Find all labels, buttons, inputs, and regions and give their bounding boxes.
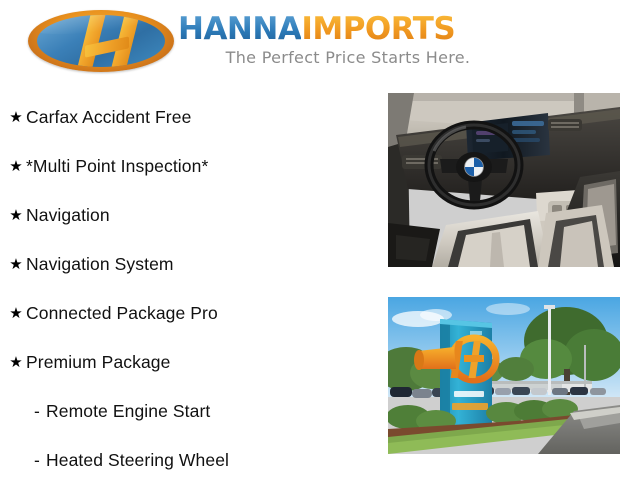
hanna-h-emblem-icon: [28, 10, 174, 72]
brand-header: HANNAIMPORTS The Perfect Price Starts He…: [0, 0, 640, 88]
vehicle-interior-artwork: [388, 93, 620, 267]
vehicle-feature-list: ★Carfax Accident Free★*Multi Point Inspe…: [0, 93, 380, 485]
wordmark-hanna: HANNA: [178, 11, 301, 47]
feature-item: ★Premium Package: [0, 338, 380, 387]
star-bullet-icon: ★: [6, 355, 26, 370]
star-bullet-icon: ★: [6, 159, 26, 174]
feature-label: *Multi Point Inspection*: [26, 156, 208, 177]
brand-tagline: The Perfect Price Starts Here.: [178, 48, 518, 67]
feature-label: Heated Steering Wheel: [46, 450, 229, 471]
feature-label: Navigation: [26, 205, 110, 226]
star-bullet-icon: ★: [6, 208, 26, 223]
logo-disc: [37, 15, 165, 67]
feature-item: ★Connected Package Pro: [0, 289, 380, 338]
star-bullet-icon: ★: [6, 257, 26, 272]
feature-label: Connected Package Pro: [26, 303, 218, 324]
brand-wordmark: HANNAIMPORTS: [178, 12, 518, 46]
feature-item: ★Carfax Accident Free: [0, 93, 380, 142]
vehicle-interior-photo: [388, 93, 620, 267]
brand-wordmark-block: HANNAIMPORTS The Perfect Price Starts He…: [178, 12, 518, 67]
dealership-exterior-artwork: [388, 297, 620, 454]
dealership-exterior-photo: [388, 297, 620, 454]
wordmark-imports: IMPORTS: [301, 11, 455, 47]
feature-label: Navigation System: [26, 254, 174, 275]
dash-bullet-icon: -: [34, 450, 46, 471]
feature-sub-item: ★-Remote Engine Start: [0, 387, 380, 436]
feature-item: ★Navigation: [0, 191, 380, 240]
feature-item: ★Navigation System: [0, 240, 380, 289]
dash-bullet-icon: -: [34, 401, 46, 422]
feature-label: Premium Package: [26, 352, 170, 373]
feature-sub-item: ★-Heated Steering Wheel: [0, 436, 380, 485]
feature-label: Carfax Accident Free: [26, 107, 191, 128]
feature-item: ★*Multi Point Inspection*: [0, 142, 380, 191]
star-bullet-icon: ★: [6, 306, 26, 321]
star-bullet-icon: ★: [6, 110, 26, 125]
feature-label: Remote Engine Start: [46, 401, 210, 422]
